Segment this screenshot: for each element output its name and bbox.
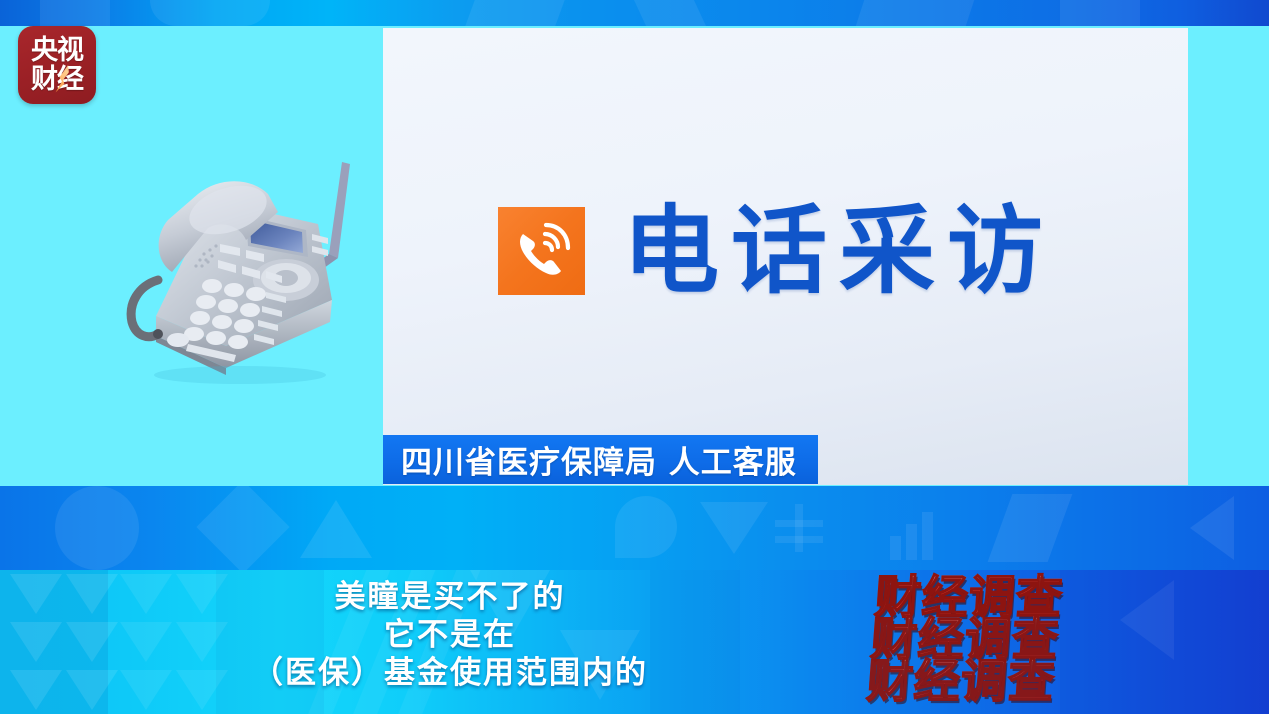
interview-panel: 电话采访 xyxy=(383,28,1188,485)
interview-title-row: 电话采访 xyxy=(498,203,1055,299)
decorative-mid-band xyxy=(0,486,1269,570)
interviewee-caption: 四川省医疗保障局 人工客服 xyxy=(383,437,797,482)
logo-line-1: 央视 xyxy=(31,37,83,64)
logo-line-2: 财经 xyxy=(31,66,83,93)
subtitle-line-2: 它不是在 xyxy=(0,616,900,654)
cctv-finance-logo: 央视 财经 xyxy=(18,26,96,104)
subtitle-line-3: （医保）基金使用范围内的 xyxy=(0,654,900,692)
interview-title: 电话采访 xyxy=(623,203,1055,299)
subtitle-line-1: 美瞳是买不了的 xyxy=(0,578,900,616)
top-banner-bar xyxy=(0,0,1269,26)
desk-telephone-photo xyxy=(100,140,380,390)
interviewee-caption-bar: 四川省医疗保障局 人工客服 xyxy=(383,435,818,484)
subtitle-block: 美瞳是买不了的 它不是在 （医保）基金使用范围内的 xyxy=(0,578,900,692)
broadcast-frame: 央视 财经 电话采访 xyxy=(0,0,1269,714)
phone-call-icon xyxy=(498,207,585,295)
program-logo: 财经调查 财经调查 财经调查 xyxy=(865,568,1155,714)
program-logo-line-3: 财经调查 xyxy=(865,658,1056,704)
